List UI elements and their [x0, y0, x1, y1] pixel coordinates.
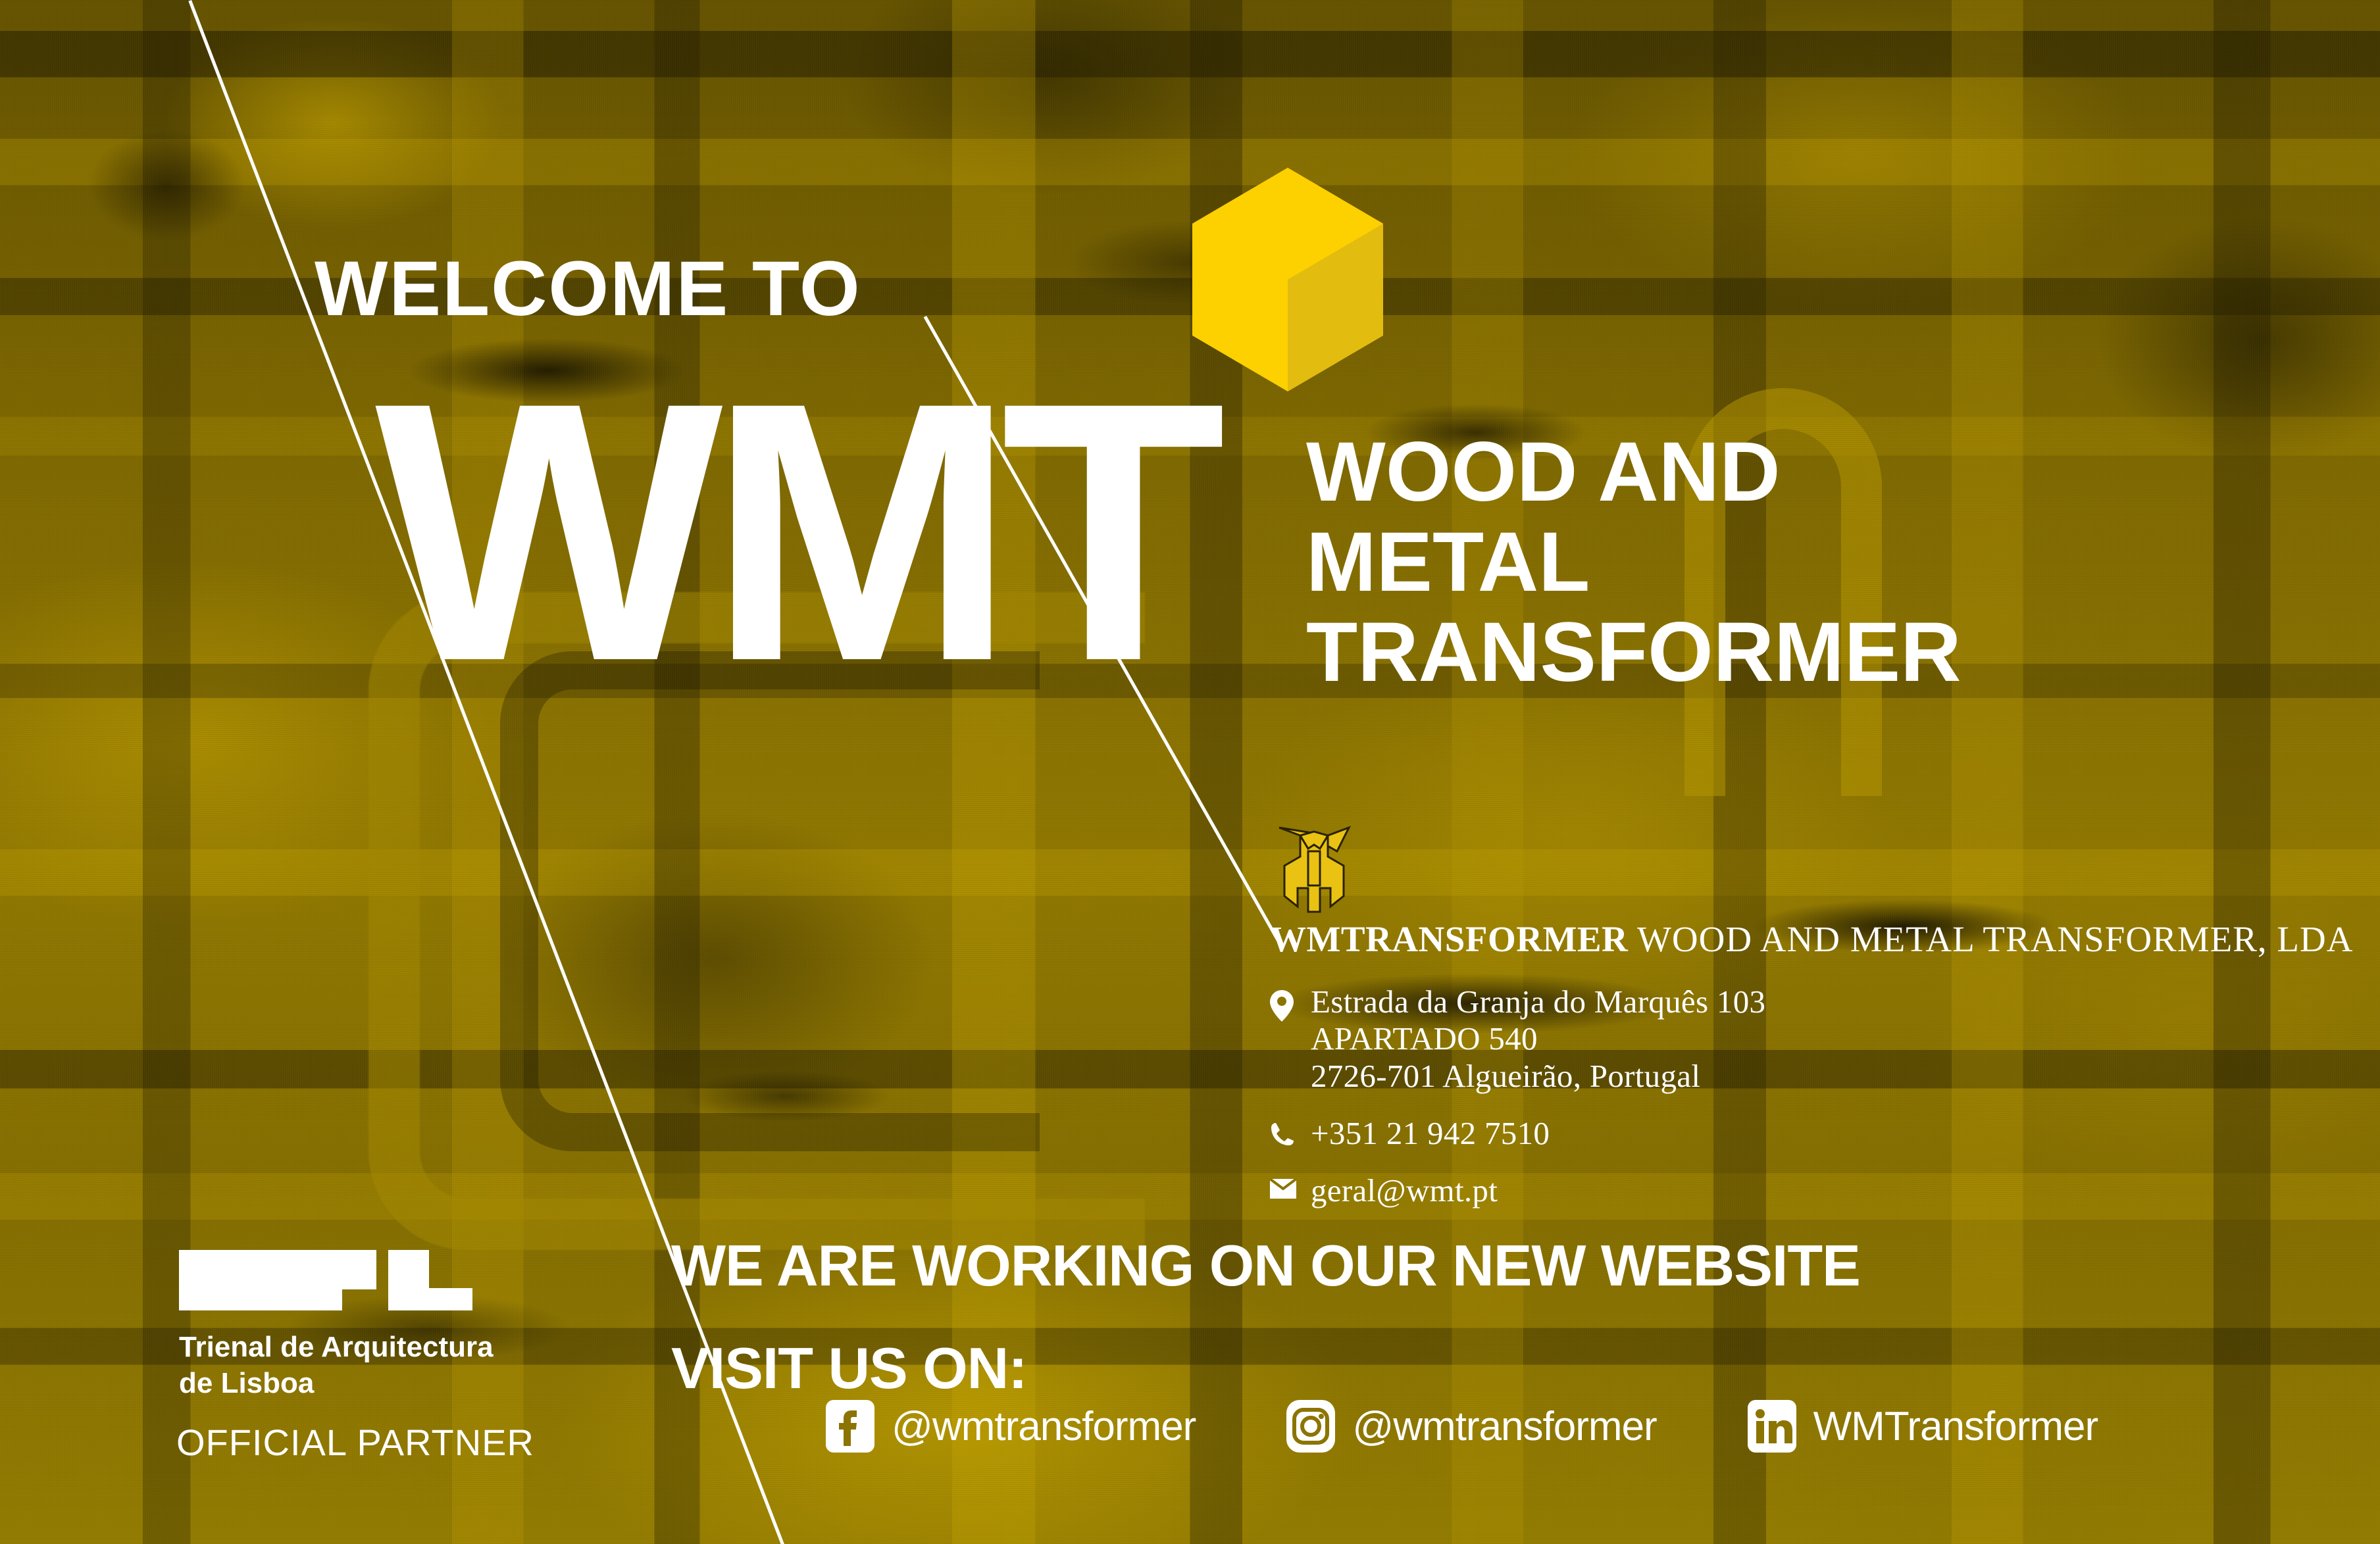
address-line-1: Estrada da Granja do Marquês 103 [1311, 984, 1765, 1020]
poster-canvas: WELCOME TO WMT WOOD AND METAL TRANSFORME… [0, 0, 2380, 1544]
address-row: Estrada da Granja do Marquês 103 APARTAD… [1270, 984, 2336, 1095]
social-row: @wmtransformer @wmtransformer [826, 1400, 2098, 1453]
cta-line-1: WE ARE WORKING ON OUR NEW WEBSITE [671, 1233, 1860, 1298]
email-text: geral@wmt.pt [1311, 1172, 1498, 1210]
partner-name: Trienal de Arquitectura de Lisboa [179, 1329, 600, 1401]
autobot-face-icon [1271, 822, 1357, 914]
contact-block: WMTRANSFORMER WOOD AND METAL TRANSFORMER… [1270, 920, 2336, 1210]
tagline-line-3: TRANSFORMER [1306, 605, 1962, 699]
cta-block: WE ARE WORKING ON OUR NEW WEBSITE VISIT … [671, 1237, 1860, 1397]
partner-name-line-2: de Lisboa [179, 1367, 314, 1399]
social-link-linkedin[interactable]: WMTransformer [1748, 1400, 2098, 1453]
address-line-2: APARTADO 540 [1311, 1020, 1538, 1057]
map-pin-icon [1270, 984, 1296, 1022]
hexagon-cube-icon [1192, 168, 1383, 391]
trienal-lisboa-logo [179, 1250, 462, 1310]
social-link-facebook[interactable]: @wmtransformer [826, 1400, 1196, 1453]
wmt-logotype: WMT [375, 388, 1211, 676]
partner-name-line-1: Trienal de Arquitectura [179, 1331, 494, 1363]
hero-tagline: WOOD AND METAL TRANSFORMER [1306, 428, 1962, 698]
welcome-heading: WELCOME TO [315, 250, 861, 328]
address-text: Estrada da Granja do Marquês 103 APARTAD… [1311, 984, 1765, 1095]
email-row[interactable]: geral@wmt.pt [1270, 1172, 2336, 1210]
address-line-3: 2726-701 Algueirão, Portugal [1311, 1058, 1700, 1094]
logo-bar-1 [179, 1250, 376, 1289]
company-brand-bold: WMTRANSFORMER [1270, 919, 1628, 959]
phone-icon [1270, 1115, 1296, 1147]
logo-bar-2 [179, 1287, 342, 1310]
official-partner-label: OFFICIAL PARTNER [176, 1421, 534, 1464]
partner-block: Trienal de Arquitectura de Lisboa [179, 1250, 600, 1401]
cta-line-2: VISIT US ON: [671, 1339, 1860, 1397]
tagline-line-2: METAL [1306, 515, 1590, 609]
social-link-instagram[interactable]: @wmtransformer [1286, 1400, 1656, 1453]
facebook-icon [826, 1400, 874, 1453]
phone-text: +351 21 942 7510 [1311, 1115, 1550, 1153]
phone-row[interactable]: +351 21 942 7510 [1270, 1115, 2336, 1153]
logo-bar-4 [388, 1288, 472, 1310]
linkedin-icon [1748, 1400, 1796, 1453]
company-brand-regular: WOOD AND METAL TRANSFORMER, LDA [1637, 919, 2353, 959]
tagline-line-1: WOOD AND [1306, 425, 1781, 519]
envelope-icon [1270, 1172, 1296, 1199]
social-handle-facebook: @wmtransformer [892, 1403, 1196, 1450]
social-handle-instagram: @wmtransformer [1352, 1403, 1656, 1450]
company-brandline: WMTRANSFORMER WOOD AND METAL TRANSFORMER… [1270, 920, 2336, 960]
social-handle-linkedin: WMTransformer [1813, 1403, 2098, 1450]
instagram-icon [1286, 1400, 1335, 1453]
